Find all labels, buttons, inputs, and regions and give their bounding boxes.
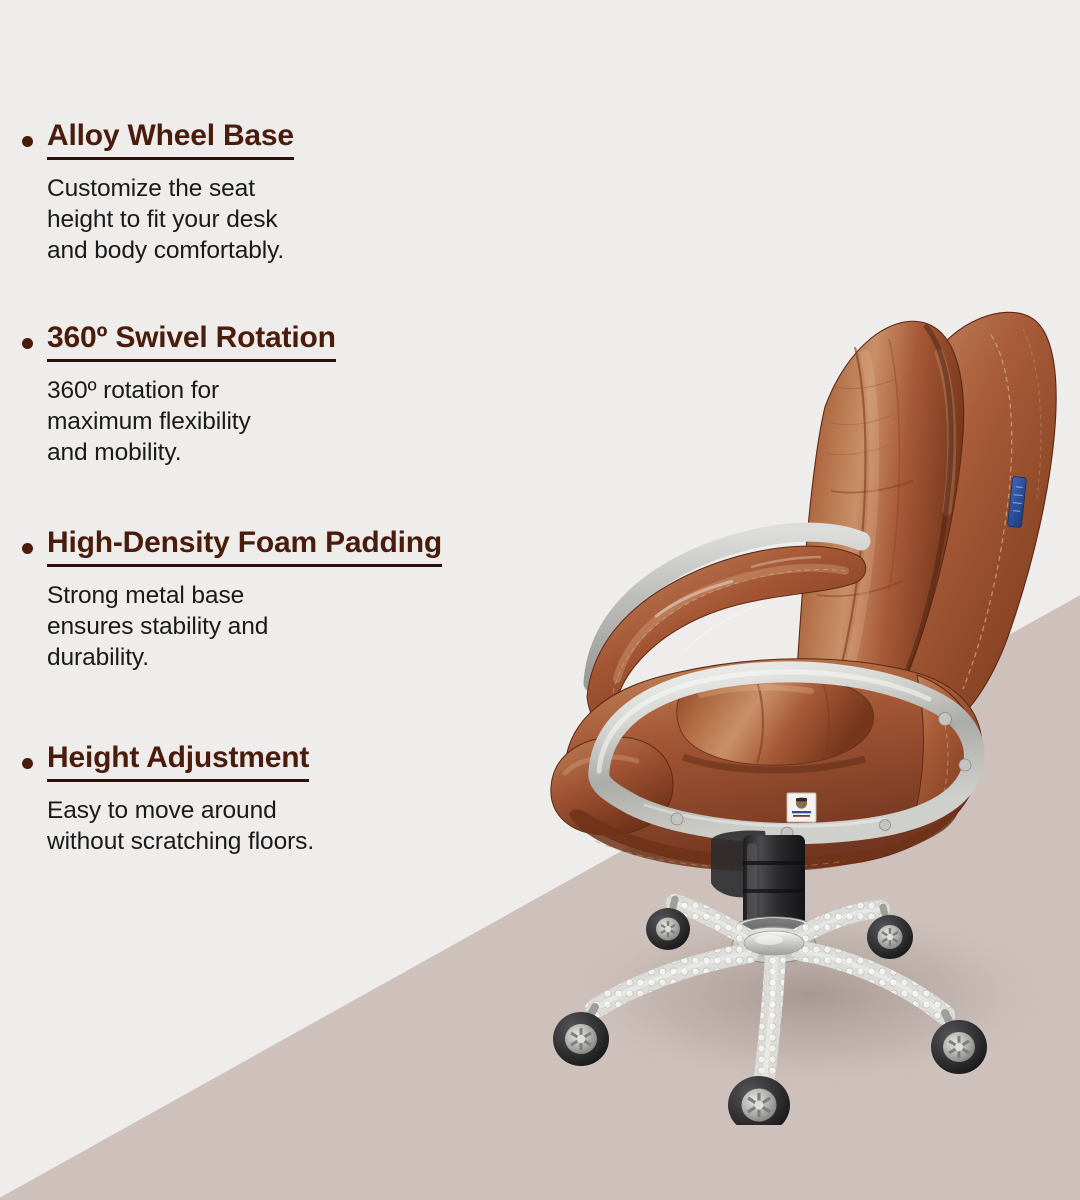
bullet-dot-icon (22, 543, 33, 554)
brand-label-sticker (787, 793, 816, 822)
bullet-dot-icon (22, 338, 33, 349)
feature-title: High-Density Foam Padding (47, 525, 442, 560)
feature-title: Height Adjustment (47, 740, 309, 775)
feature-title-underline (47, 359, 336, 362)
bullet-dot-icon (22, 758, 33, 769)
feature-description: 360º rotation for maximum flexibility an… (47, 375, 336, 468)
feature-heading-wrap: Alloy Wheel Base (47, 118, 294, 160)
bullet-dot-icon (22, 136, 33, 147)
feature-heading-row: Alloy Wheel Base (22, 118, 294, 160)
feature-title-underline (47, 157, 294, 160)
feature-title: 360º Swivel Rotation (47, 320, 336, 355)
feature-item-swivel-rotation: 360º Swivel Rotation 360º rotation for m… (22, 320, 336, 468)
feature-title: Alloy Wheel Base (47, 118, 294, 153)
feature-heading-wrap: Height Adjustment (47, 740, 309, 782)
feature-item-foam-padding: High-Density Foam Padding Strong metal b… (22, 525, 442, 673)
feature-item-alloy-wheel-base: Alloy Wheel Base Customize the seat heig… (22, 118, 294, 266)
feature-description: Strong metal base ensures stability and … (47, 580, 442, 673)
feature-title-underline (47, 779, 309, 782)
feature-heading-row: Height Adjustment (22, 740, 314, 782)
feature-description: Easy to move around without scratching f… (47, 795, 314, 857)
feature-description: Customize the seat height to fit your de… (47, 173, 294, 266)
feature-title-underline (47, 564, 442, 567)
feature-heading-wrap: 360º Swivel Rotation (47, 320, 336, 362)
feature-heading-row: 360º Swivel Rotation (22, 320, 336, 362)
feature-item-height-adjustment: Height Adjustment Easy to move around wi… (22, 740, 314, 857)
infographic-canvas: Alloy Wheel Base Customize the seat heig… (0, 0, 1080, 1200)
feature-heading-row: High-Density Foam Padding (22, 525, 442, 567)
feature-heading-wrap: High-Density Foam Padding (47, 525, 442, 567)
office-chair-photo (525, 295, 1080, 1125)
